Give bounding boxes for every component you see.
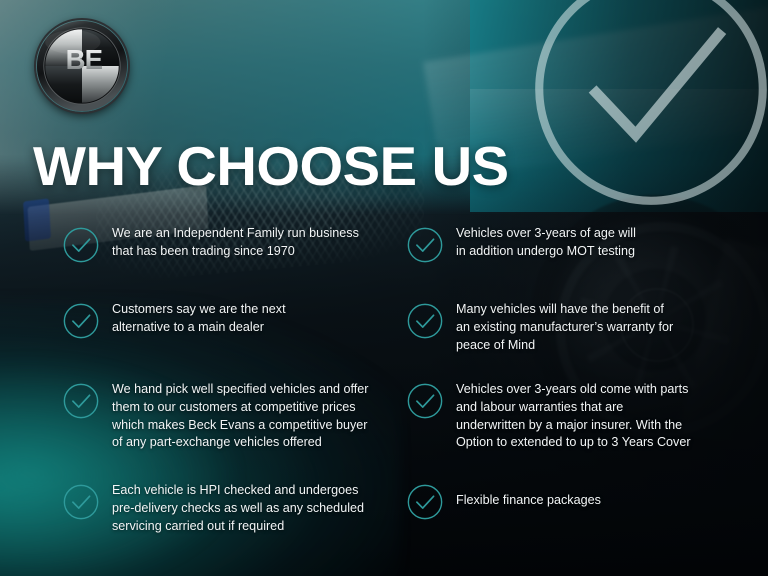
page-title: WHY CHOOSE US [33,138,508,194]
feature-item: We hand pick well specified vehicles and… [62,380,368,452]
feature-item: We are an Independent Family run busines… [62,224,359,264]
feature-item: Each vehicle is HPI checked and undergoe… [62,481,364,535]
why-choose-us-banner: BE WHY CHOOSE US We are an Independent F… [0,0,768,576]
feature-text: Each vehicle is HPI checked and undergoe… [112,481,364,535]
check-circle-icon [406,483,444,521]
check-circle-icon [406,226,444,264]
check-circle-icon [62,226,100,264]
check-circle-icon [62,382,100,420]
check-circle-icon [406,382,444,420]
feature-text: Customers say we are the next alternativ… [112,300,286,337]
feature-item: Flexible finance packages [406,481,601,521]
beck-evans-roundel-logo: BE [36,20,128,112]
check-circle-icon [62,302,100,340]
feature-text: We hand pick well specified vehicles and… [112,380,368,452]
feature-text: Flexible finance packages [456,481,601,510]
feature-text: Vehicles over 3-years of age will in add… [456,224,636,261]
feature-text: We are an Independent Family run busines… [112,224,359,261]
check-circle-watermark-icon [524,0,768,216]
check-circle-icon [62,483,100,521]
feature-text: Many vehicles will have the benefit of a… [456,300,673,354]
feature-item: Vehicles over 3-years old come with part… [406,380,691,452]
feature-item: Many vehicles will have the benefit of a… [406,300,673,354]
feature-text: Vehicles over 3-years old come with part… [456,380,691,452]
feature-item: Vehicles over 3-years of age will in add… [406,224,636,264]
feature-item: Customers say we are the next alternativ… [62,300,286,340]
check-circle-icon [406,302,444,340]
